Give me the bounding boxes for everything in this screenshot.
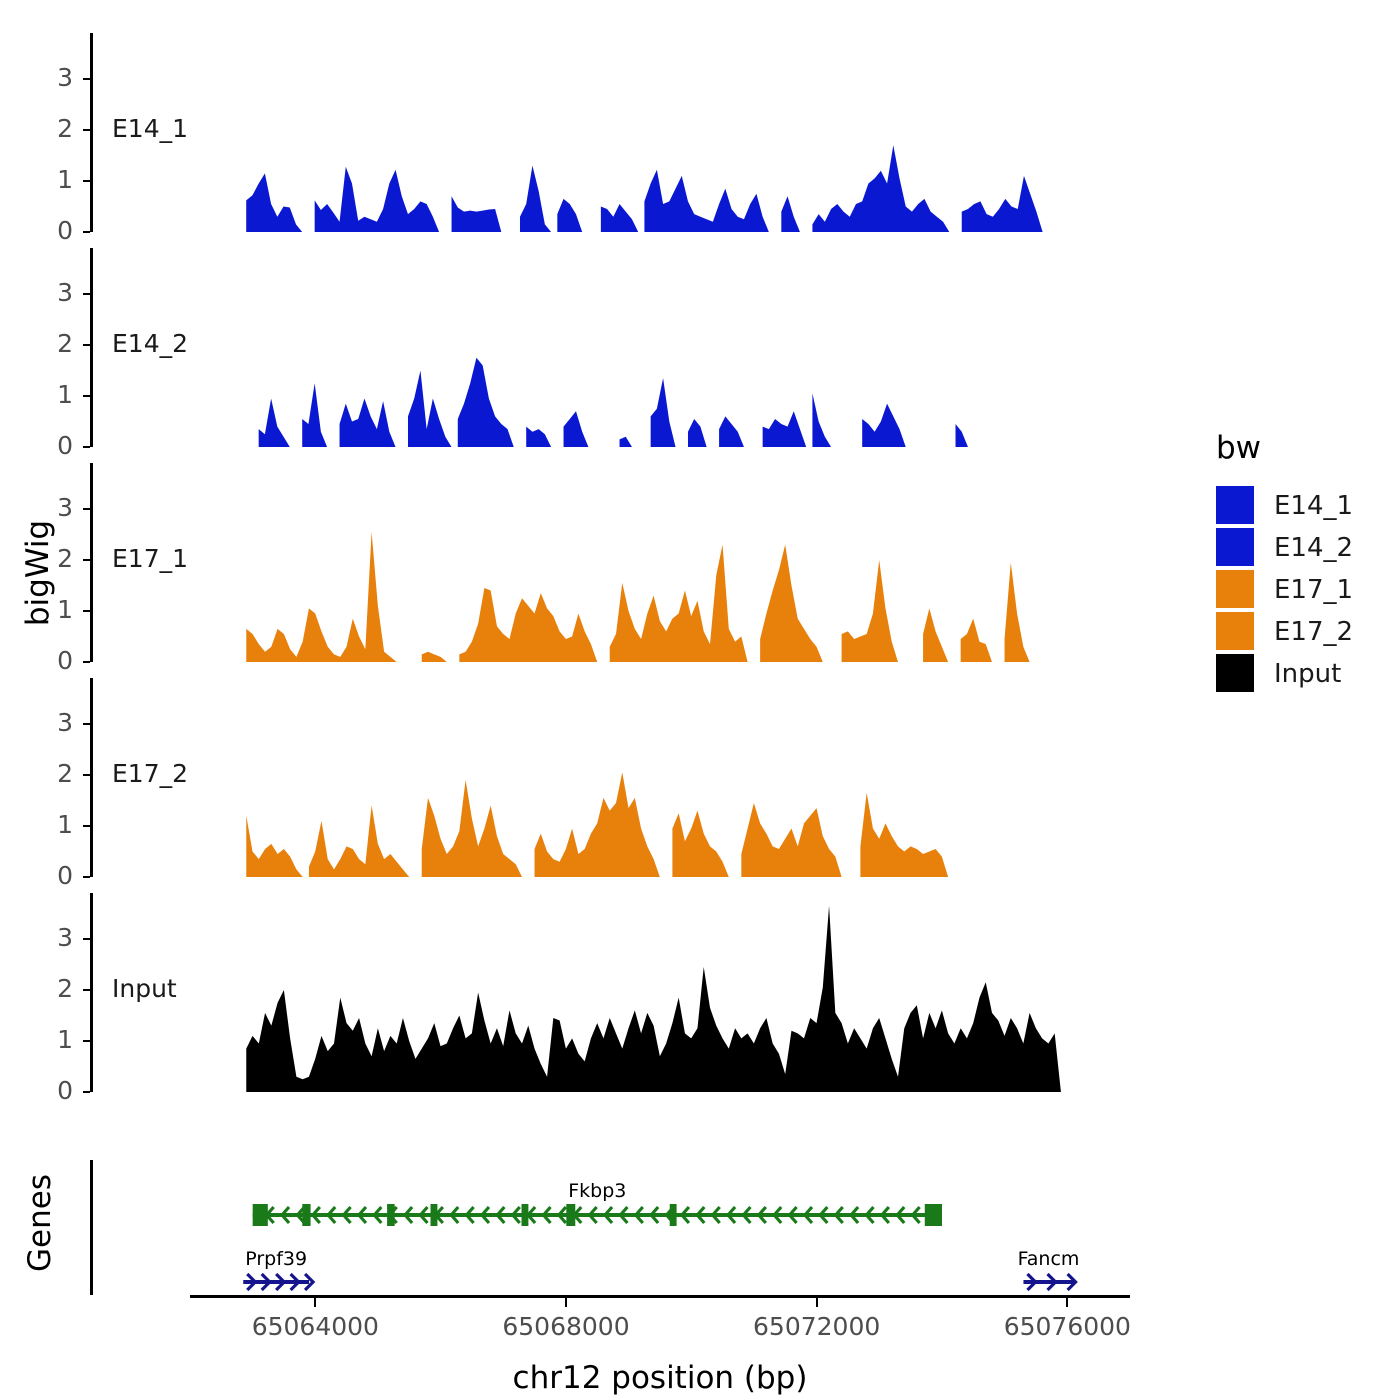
y-tick (83, 129, 90, 131)
y-tick-label: 0 (15, 646, 73, 675)
track-panel-e14_1: 0123E14_1 (90, 33, 1135, 232)
gene-label-prpf39: Prpf39 (146, 1248, 406, 1270)
y-tick-label: 2 (15, 974, 73, 1003)
x-tick-label: 65068000 (446, 1312, 686, 1341)
track-area-e14_2 (93, 248, 1133, 447)
x-tick (565, 1298, 567, 1307)
track-panel-e14_2: 0123E14_2 (90, 248, 1135, 447)
track-area-e17_1 (93, 463, 1133, 662)
y-axis-title-genes: Genes (22, 1173, 58, 1273)
x-axis-line (190, 1295, 1130, 1298)
y-tick-label: 3 (15, 278, 73, 307)
track-area-e14_1 (93, 33, 1133, 232)
legend-item-e14_2[interactable]: E14_2 (1216, 527, 1386, 569)
y-tick (83, 78, 90, 80)
y-tick (83, 180, 90, 182)
x-axis-title: chr12 position (bp) (190, 1360, 1130, 1396)
x-tick-label: 65072000 (697, 1312, 937, 1341)
x-tick (314, 1298, 316, 1307)
legend-label: E17_2 (1274, 617, 1353, 647)
y-tick (83, 774, 90, 776)
genes-panel: Fkbp3 Prpf39 Fancm (90, 1160, 1135, 1295)
y-tick (83, 661, 90, 663)
legend-label: E14_2 (1274, 533, 1353, 563)
x-tick-label: 65076000 (947, 1312, 1187, 1341)
legend-item-input[interactable]: Input (1216, 653, 1386, 695)
y-tick-label: 1 (15, 380, 73, 409)
y-tick-label: 3 (15, 493, 73, 522)
track-panel-input: 0123Input (90, 893, 1135, 1092)
track-area-input (93, 893, 1133, 1092)
track-panel-e17_1: 0123E17_1 (90, 463, 1135, 662)
y-tick (83, 344, 90, 346)
y-tick (83, 395, 90, 397)
legend-swatch (1216, 486, 1254, 524)
y-tick-label: 1 (15, 810, 73, 839)
legend-swatch (1216, 654, 1254, 692)
legend-label: E14_1 (1274, 491, 1353, 521)
y-tick-label: 3 (15, 923, 73, 952)
y-tick-label: 0 (15, 431, 73, 460)
y-tick (83, 446, 90, 448)
y-tick-label: 2 (15, 759, 73, 788)
x-tick (1066, 1298, 1068, 1307)
legend-item-e17_2[interactable]: E17_2 (1216, 611, 1386, 653)
legend-item-e17_1[interactable]: E17_1 (1216, 569, 1386, 611)
track-panel-e17_2: 0123E17_2 (90, 678, 1135, 877)
x-tick (816, 1298, 818, 1307)
legend-label: E17_1 (1274, 575, 1353, 605)
y-tick (83, 508, 90, 510)
y-tick-label: 0 (15, 861, 73, 890)
y-tick (83, 559, 90, 561)
gene-label-fkbp3: Fkbp3 (467, 1180, 727, 1202)
gene-label-fancm: Fancm (919, 1248, 1179, 1270)
legend-item-e14_1[interactable]: E14_1 (1216, 485, 1386, 527)
y-tick-label: 3 (15, 708, 73, 737)
y-tick-label: 0 (15, 1076, 73, 1105)
y-tick (83, 610, 90, 612)
y-tick-label: 1 (15, 1025, 73, 1054)
y-tick-label: 2 (15, 329, 73, 358)
y-tick-label: 0 (15, 216, 73, 245)
y-tick (83, 876, 90, 878)
y-tick (83, 293, 90, 295)
legend-swatch (1216, 570, 1254, 608)
y-tick-label: 2 (15, 544, 73, 573)
y-tick (83, 723, 90, 725)
legend-label: Input (1274, 659, 1341, 689)
y-tick (83, 231, 90, 233)
y-tick-label: 1 (15, 165, 73, 194)
y-tick (83, 938, 90, 940)
y-tick (83, 825, 90, 827)
legend-title: bw (1216, 430, 1261, 466)
y-tick (83, 1091, 90, 1093)
legend-swatch (1216, 528, 1254, 566)
y-tick (83, 1040, 90, 1042)
y-tick (83, 989, 90, 991)
track-area-e17_2 (93, 678, 1133, 877)
legend-swatch (1216, 612, 1254, 650)
y-tick-label: 3 (15, 63, 73, 92)
x-tick-label: 65064000 (195, 1312, 435, 1341)
y-tick-label: 2 (15, 114, 73, 143)
y-tick-label: 1 (15, 595, 73, 624)
